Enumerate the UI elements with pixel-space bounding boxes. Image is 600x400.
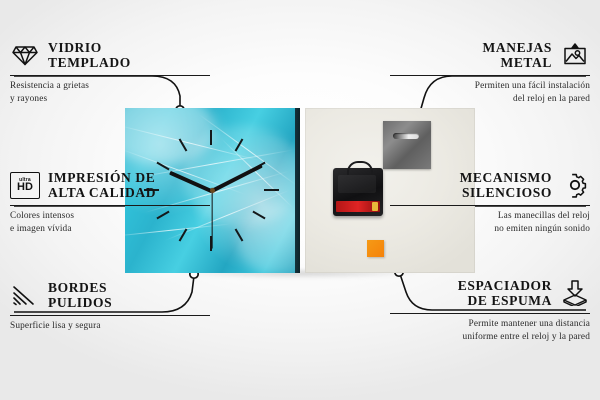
foam-spacer-pad [367, 240, 384, 257]
second-hand [211, 191, 212, 249]
battery-terminal [372, 202, 378, 211]
feature-title: MANEJAS METAL [483, 40, 552, 70]
minute-hand [211, 164, 263, 193]
tick-3 [264, 189, 279, 191]
tick-4 [252, 211, 265, 220]
polished-edges-icon [10, 280, 40, 310]
mechanism-housing-detail [338, 175, 376, 193]
feature-header: BORDES PULIDOS [10, 278, 210, 312]
feature-divider [390, 205, 590, 206]
feature-header: MANEJAS METAL [390, 38, 590, 72]
ultra-hd-icon: ultra HD [10, 170, 40, 200]
feature-divider [390, 313, 590, 314]
metal-hanger-plate [383, 121, 431, 169]
feature-header: ESPACIADOR DE ESPUMA [390, 276, 590, 310]
feature-subtitle: Colores intensos e imagen vívida [10, 210, 210, 235]
clock-center-pin [210, 188, 215, 193]
feature-subtitle: Permiten una fácil instalación del reloj… [390, 80, 590, 105]
feature-bordes-pulidos: BORDES PULIDOS Superficie lisa y segura [10, 278, 210, 333]
feature-divider [390, 75, 590, 76]
feature-subtitle: Permite mantener una distancia uniforme … [390, 318, 590, 343]
feature-title: IMPRESIÓN DE ALTA CALIDAD [48, 170, 156, 200]
feature-title: BORDES PULIDOS [48, 280, 112, 310]
feature-header: MECANISMO SILENCIOSO [390, 168, 590, 202]
tick-5 [235, 228, 244, 241]
mechanism-hook [347, 161, 373, 175]
feature-divider [10, 315, 210, 316]
feature-title: ESPACIADOR DE ESPUMA [458, 278, 552, 308]
infographic-canvas: VIDRIO TEMPLADO Resistencia a grietas y … [0, 0, 600, 400]
clock-side-edge [295, 108, 300, 273]
feature-mecanismo-silencioso: MECANISMO SILENCIOSO Las manecillas del … [390, 168, 590, 235]
feature-header: VIDRIO TEMPLADO [10, 38, 210, 72]
diamond-icon [10, 40, 40, 70]
feature-subtitle: Superficie lisa y segura [10, 320, 210, 333]
gear-icon [560, 170, 590, 200]
battery-compartment [336, 201, 380, 212]
feature-espaciador-espuma: ESPACIADOR DE ESPUMA Permite mantener un… [390, 276, 590, 343]
feature-vidrio-templado: VIDRIO TEMPLADO Resistencia a grietas y … [10, 38, 210, 105]
tick-12 [210, 130, 212, 145]
feature-title: VIDRIO TEMPLADO [48, 40, 131, 70]
feature-title: MECANISMO SILENCIOSO [460, 170, 552, 200]
feature-subtitle: Resistencia a grietas y rayones [10, 80, 210, 105]
feature-impresion-alta-calidad: ultra HD IMPRESIÓN DE ALTA CALIDAD Color… [10, 168, 210, 235]
feature-header: ultra HD IMPRESIÓN DE ALTA CALIDAD [10, 168, 210, 202]
feature-divider [10, 205, 210, 206]
hanger-slot [393, 133, 419, 139]
tick-1 [235, 138, 244, 151]
foam-spacer-arrow-icon [560, 278, 590, 308]
feature-manejas-metal: MANEJAS METAL Permiten una fácil instala… [390, 38, 590, 105]
tick-11 [179, 138, 188, 151]
feature-subtitle: Las manecillas del reloj no emiten ningú… [390, 210, 590, 235]
feature-divider [10, 75, 210, 76]
wall-hanger-frame-icon [560, 40, 590, 70]
quartz-clock-mechanism [333, 168, 383, 216]
hd-label: HD [17, 182, 33, 193]
